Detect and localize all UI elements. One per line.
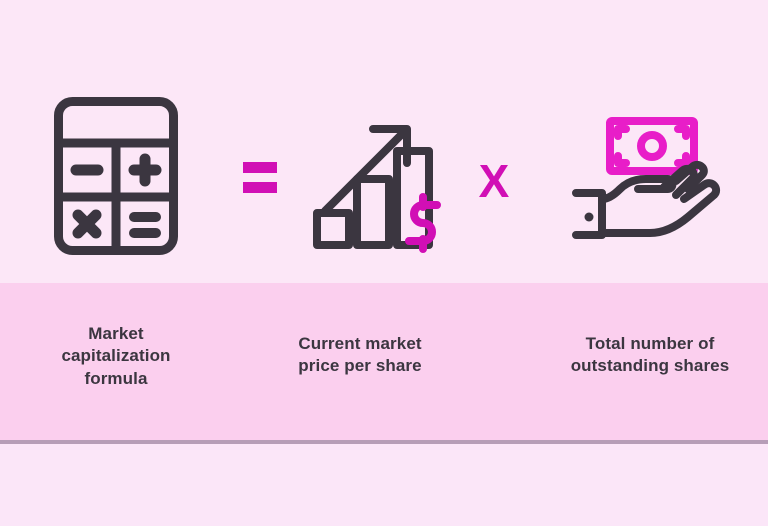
label-line: capitalization [30, 345, 202, 367]
multiplication-sign: X [460, 148, 528, 214]
equals-bar-top [243, 162, 277, 173]
calculator-icon [36, 78, 196, 274]
hand-holding-money-icon [566, 112, 728, 252]
label-line: price per share [272, 355, 448, 377]
label-line: outstanding shares [552, 355, 748, 377]
equals-sign [228, 145, 292, 209]
label-line: Total number of [552, 333, 748, 355]
label-line: Current market [272, 333, 448, 355]
growth-chart-icon [300, 95, 452, 260]
multiplication-glyph: X [479, 158, 510, 204]
icon-row: X [0, 0, 768, 283]
equals-bar-bottom [243, 182, 277, 193]
label-row: Market capitalization formula Current ma… [0, 283, 768, 440]
equals-glyph [243, 162, 277, 193]
label-line: Market [30, 323, 202, 345]
label-total-number-of-outstanding-shares: Total number of outstanding shares [552, 333, 748, 378]
background-band-bottom [0, 444, 768, 526]
label-line: formula [30, 368, 202, 390]
infographic-canvas: X [0, 0, 768, 526]
label-current-market-price-per-share: Current market price per share [272, 333, 448, 378]
label-market-capitalization-formula: Market capitalization formula [30, 323, 202, 390]
